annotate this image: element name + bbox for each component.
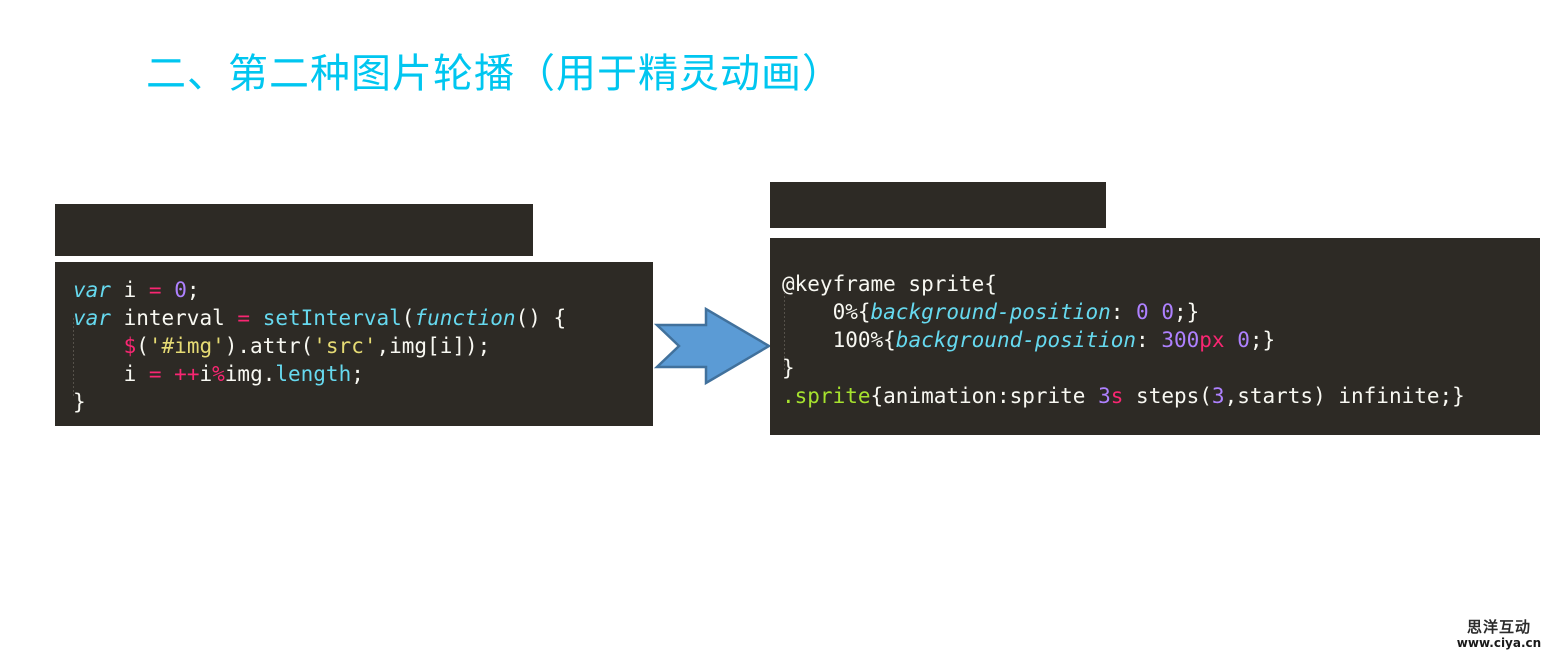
- code-token: steps(: [1123, 384, 1212, 408]
- code-token: '#img': [149, 334, 225, 358]
- watermark-company: 思洋互动: [1451, 619, 1547, 636]
- arrow-shape: [657, 309, 769, 383]
- code-block-sprite-markup: <b class="sprite"></b>: [770, 182, 1106, 228]
- code-token: s: [1111, 384, 1124, 408]
- code-token: i: [73, 362, 149, 386]
- code-token: .sprite: [782, 384, 871, 408]
- code-token: img.: [225, 362, 276, 386]
- code-block-img-markup: <img src="img.png" id="img" />: [55, 204, 533, 256]
- code-token: 0: [174, 278, 187, 302]
- code-token: =: [149, 362, 162, 386]
- code-token: =: [237, 306, 250, 330]
- code-token: ;: [187, 278, 200, 302]
- code-token: [1149, 300, 1162, 324]
- code-line: $('#img').attr('src',img[i]);: [73, 332, 653, 360]
- code-token: :: [1111, 300, 1136, 324]
- code-token: var: [73, 306, 111, 330]
- code-token: [162, 362, 175, 386]
- code-token: 0: [1136, 300, 1149, 324]
- code-token: () {: [516, 306, 567, 330]
- code-line: }: [73, 388, 653, 416]
- code-token: [250, 306, 263, 330]
- code-token: %: [212, 362, 225, 386]
- code-token: background-position: [896, 328, 1136, 352]
- code-token: interval: [111, 306, 237, 330]
- code-line: i = ++i%img.length;: [73, 360, 653, 388]
- code-token: =: [149, 278, 162, 302]
- code-token: length: [275, 362, 351, 386]
- code-line: .sprite{animation:sprite 3s steps(3,star…: [782, 382, 1540, 410]
- code-block-keyframes-css: @keyframe sprite{ 0%{background-position…: [770, 238, 1540, 435]
- code-token: setInterval: [263, 306, 402, 330]
- code-token: [1225, 328, 1238, 352]
- page-title: 二、第二种图片轮播（用于精灵动画）: [146, 46, 843, 102]
- code-token: ++: [174, 362, 199, 386]
- code-line: 100%{background-position: 300px 0;}: [782, 326, 1540, 354]
- code-token: background-position: [871, 300, 1111, 324]
- code-token: }: [73, 390, 86, 414]
- code-token: px: [1199, 328, 1224, 352]
- code-token: $: [124, 334, 137, 358]
- code-token: var: [73, 278, 111, 302]
- code-token: 0: [1161, 300, 1174, 324]
- right-arrow-icon: [654, 305, 772, 387]
- code-token: [73, 334, 124, 358]
- code-token: 3: [1212, 384, 1225, 408]
- code-token: 0%{: [782, 300, 871, 324]
- code-token: ;: [351, 362, 364, 386]
- slide-canvas: 二、第二种图片轮播（用于精灵动画） <img src="img.png" id=…: [0, 0, 1560, 659]
- code-token: [162, 278, 175, 302]
- code-token: (: [402, 306, 415, 330]
- code-token: {animation:sprite: [871, 384, 1099, 408]
- code-token: 0: [1237, 328, 1250, 352]
- code-token: 'src': [313, 334, 376, 358]
- code-line: var i = 0;: [73, 276, 653, 304]
- code-token: i: [111, 278, 149, 302]
- code-line: }: [782, 354, 1540, 382]
- code-token: 100%{: [782, 328, 896, 352]
- code-token: ;}: [1250, 328, 1275, 352]
- code-line: var interval = setInterval(function() {: [73, 304, 653, 332]
- code-block-setinterval-script: var i = 0;var interval = setInterval(fun…: [55, 262, 653, 426]
- code-line: 0%{background-position: 0 0;}: [782, 298, 1540, 326]
- code-token: @keyframe sprite{: [782, 272, 997, 296]
- code-token: function: [414, 306, 515, 330]
- code-token: :: [1136, 328, 1161, 352]
- watermark: 思洋互动 www.ciya.cn: [1451, 619, 1547, 650]
- code-token: i: [199, 362, 212, 386]
- code-token: 3: [1098, 384, 1111, 408]
- watermark-url: www.ciya.cn: [1451, 636, 1547, 650]
- code-token: 300: [1161, 328, 1199, 352]
- code-token: ).attr(: [225, 334, 314, 358]
- code-token: (: [136, 334, 149, 358]
- code-token: ,img[i]);: [376, 334, 490, 358]
- code-token: }: [782, 356, 795, 380]
- code-token: ,starts) infinite;}: [1225, 384, 1465, 408]
- code-token: ;}: [1174, 300, 1199, 324]
- code-line: @keyframe sprite{: [782, 270, 1540, 298]
